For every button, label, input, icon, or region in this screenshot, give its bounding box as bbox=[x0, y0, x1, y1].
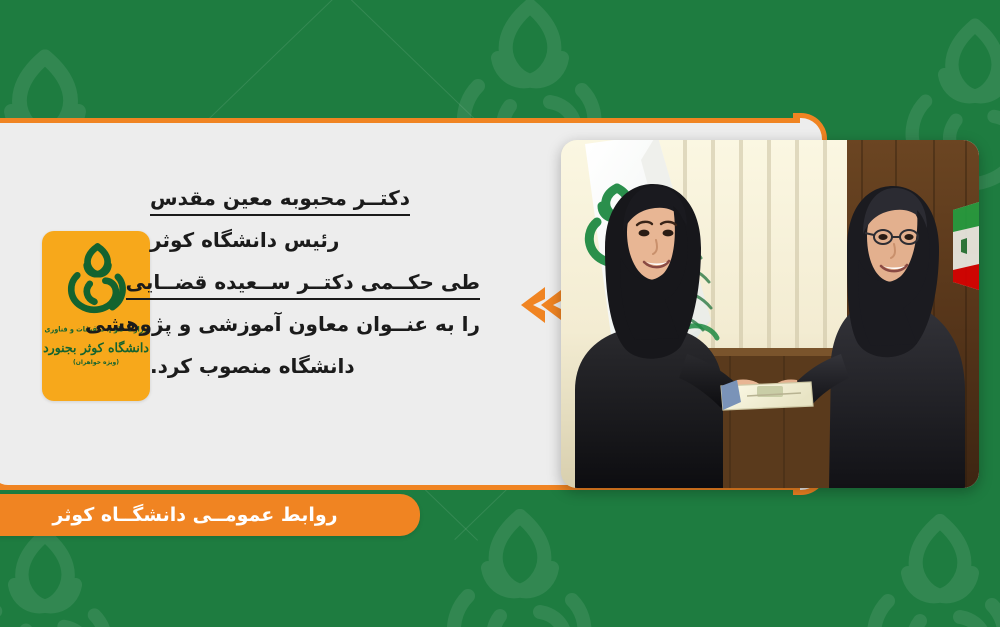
double-chevron-left-icon bbox=[519, 281, 567, 329]
headline-line-3-text: طی حکــمی دکتــر ســعیده قضــایی bbox=[126, 270, 480, 300]
headline-line-5-text: دانشگاه منصوب کرد. bbox=[150, 354, 355, 378]
kosar-university-monogram-icon bbox=[57, 241, 135, 319]
public-relations-ribbon: روابط عمومــی دانشگــاه کوثر bbox=[0, 494, 420, 536]
headline-line-1: دکتــر محبوبه معین مقدس bbox=[150, 188, 480, 208]
kosar-logo-watermark bbox=[420, 500, 620, 627]
poster-canvas: وزارت علوم، تحقیقات و فناوری دانشگاه کوث… bbox=[0, 0, 1000, 627]
headline-line-1-text: دکتــر محبوبه معین مقدس bbox=[150, 186, 410, 216]
headline-block: دکتــر محبوبه معین مقدس رئیس دانشگاه کوث… bbox=[150, 188, 480, 376]
kosar-logo-watermark bbox=[840, 505, 1000, 627]
panel-top-accent-bar bbox=[0, 118, 800, 123]
logo-university-name: دانشگاه کوثر بجنورد bbox=[43, 340, 149, 355]
kosar-logo-watermark bbox=[0, 520, 140, 627]
headline-line-2-text: رئیس دانشگاه کوثر bbox=[150, 228, 339, 252]
headline-line-2: رئیس دانشگاه کوثر bbox=[150, 230, 480, 250]
news-photo bbox=[561, 140, 979, 488]
headline-line-3: طی حکــمی دکتــر ســعیده قضــایی bbox=[150, 272, 480, 292]
headline-line-5: دانشگاه منصوب کرد. bbox=[150, 356, 480, 376]
logo-subtitle: (ویژه خواهران) bbox=[73, 359, 119, 366]
headline-line-4-text: را به عنــوان معاون آموزشی و پژوهشی bbox=[85, 312, 480, 336]
headline-line-4: را به عنــوان معاون آموزشی و پژوهشی bbox=[150, 314, 480, 334]
public-relations-ribbon-text: روابط عمومــی دانشگــاه کوثر bbox=[30, 504, 420, 526]
